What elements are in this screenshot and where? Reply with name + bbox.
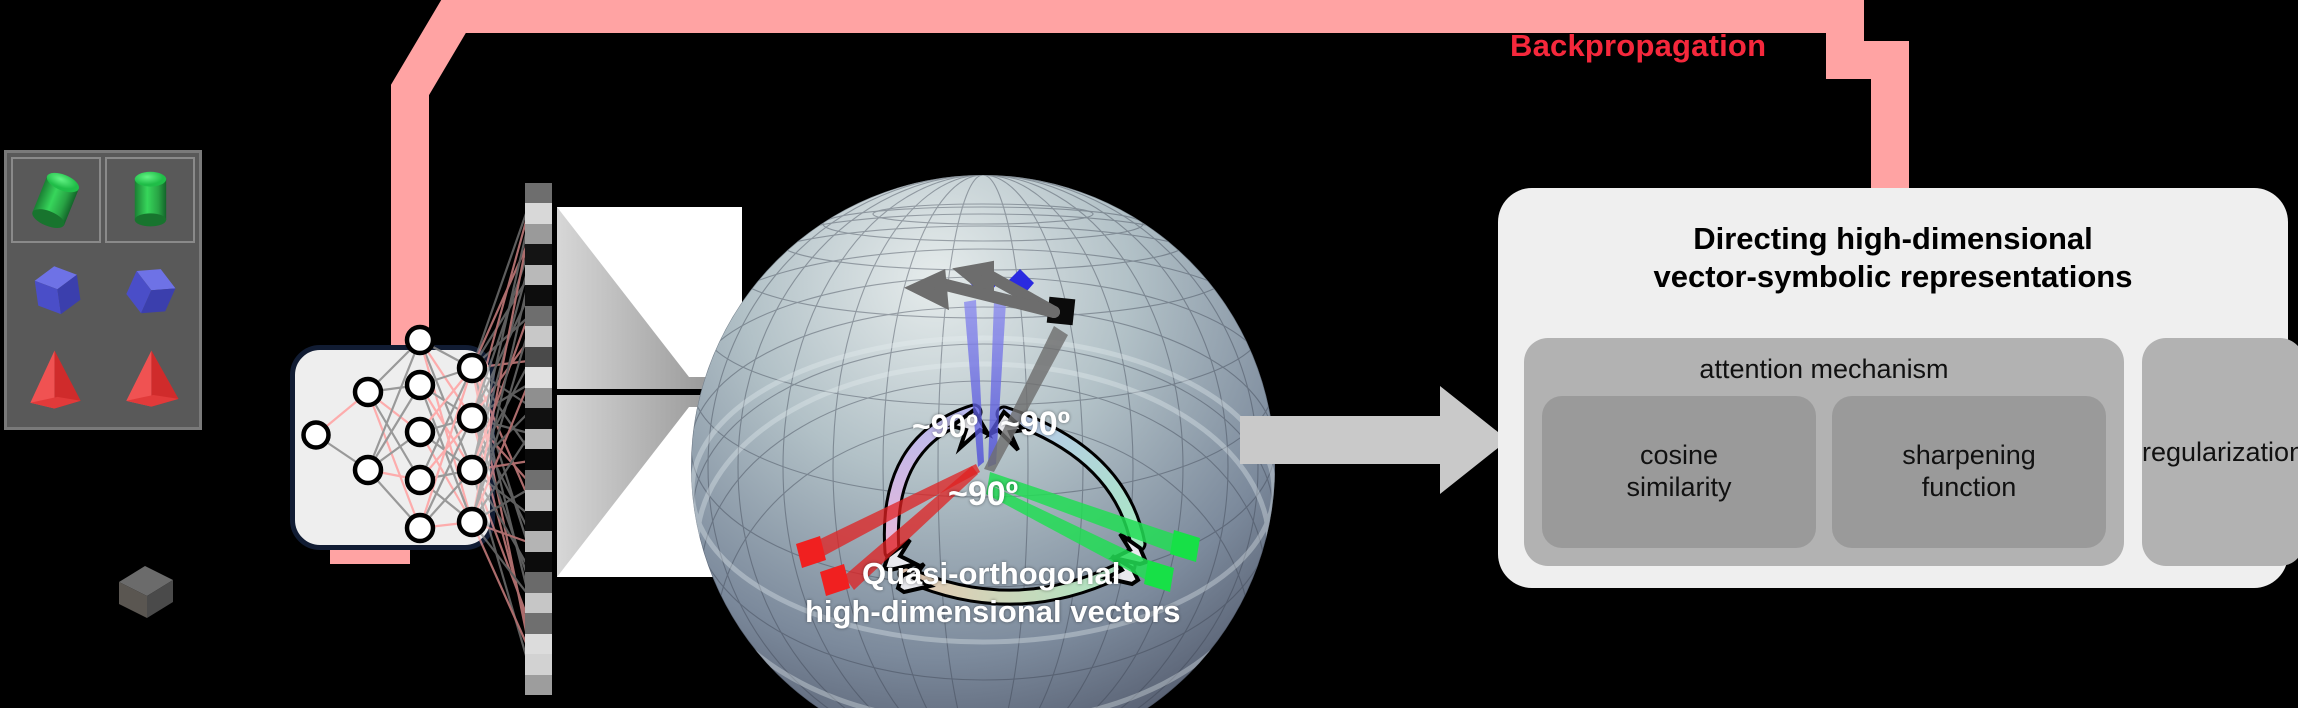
vector-cell bbox=[525, 572, 552, 592]
stage-transition-arrow bbox=[1240, 380, 1510, 500]
vector-cell bbox=[525, 449, 552, 469]
vector-cell bbox=[525, 347, 552, 367]
diagram-canvas: Backpropagation bbox=[0, 0, 2298, 708]
vector-cell bbox=[525, 634, 552, 654]
panel-title-line2: vector-symbolic representations bbox=[1524, 258, 2262, 296]
sphere-caption-line2: high-dimensional vectors bbox=[805, 594, 1181, 630]
vector-cell bbox=[525, 429, 552, 449]
vector-cell bbox=[525, 490, 552, 510]
vector-cell bbox=[525, 552, 552, 572]
cosine-similarity-box[interactable]: cosine similarity bbox=[1542, 396, 1816, 548]
vector-cell bbox=[525, 367, 552, 387]
attention-mechanism-label: attention mechanism bbox=[1524, 338, 2124, 385]
vector-cell bbox=[525, 183, 552, 203]
neural-network bbox=[290, 170, 550, 700]
sharpening-function-line1: sharpening bbox=[1902, 440, 2036, 470]
vector-cell bbox=[525, 203, 552, 223]
attention-subitems: cosine similarity sharpening function bbox=[1542, 396, 2106, 548]
vector-cell bbox=[525, 470, 552, 490]
cosine-similarity-line2: similarity bbox=[1627, 472, 1732, 502]
regularization-label: regularization bbox=[2142, 437, 2298, 468]
angle-label-right: ~90º bbox=[1000, 405, 1070, 444]
vector-cell bbox=[525, 531, 552, 551]
vector-cell bbox=[525, 675, 552, 695]
regularization-box[interactable]: regularization bbox=[2142, 338, 2298, 566]
sharpening-function-line2: function bbox=[1922, 472, 2017, 502]
vector-cell bbox=[525, 244, 552, 264]
angle-label-bottom: ~90º bbox=[948, 475, 1018, 514]
method-panel: Directing high-dimensional vector-symbol… bbox=[1498, 188, 2288, 588]
sharpening-function-box[interactable]: sharpening function bbox=[1832, 396, 2106, 548]
backpropagation-label: Backpropagation bbox=[1510, 28, 1766, 64]
method-box-row: attention mechanism cosine similarity sh… bbox=[1524, 338, 2262, 566]
high-dimensional-vector-bar bbox=[525, 183, 552, 695]
attention-mechanism-box[interactable]: attention mechanism cosine similarity sh… bbox=[1524, 338, 2124, 566]
vector-cell bbox=[525, 511, 552, 531]
vector-cell bbox=[525, 593, 552, 613]
vector-cell bbox=[525, 408, 552, 428]
vector-cell bbox=[525, 285, 552, 305]
angle-label-left: ~90º bbox=[912, 408, 978, 445]
vector-cell bbox=[525, 265, 552, 285]
vector-cell bbox=[525, 388, 552, 408]
vector-cell bbox=[525, 654, 552, 674]
vector-cell bbox=[525, 224, 552, 244]
vector-cell bbox=[525, 306, 552, 326]
panel-title-line1: Directing high-dimensional bbox=[1524, 220, 2262, 258]
cosine-similarity-line1: cosine bbox=[1640, 440, 1718, 470]
panel-title: Directing high-dimensional vector-symbol… bbox=[1524, 220, 2262, 296]
vector-cell bbox=[525, 613, 552, 633]
vector-cell bbox=[525, 326, 552, 346]
sphere-caption-line1: Quasi-orthogonal bbox=[862, 556, 1120, 592]
